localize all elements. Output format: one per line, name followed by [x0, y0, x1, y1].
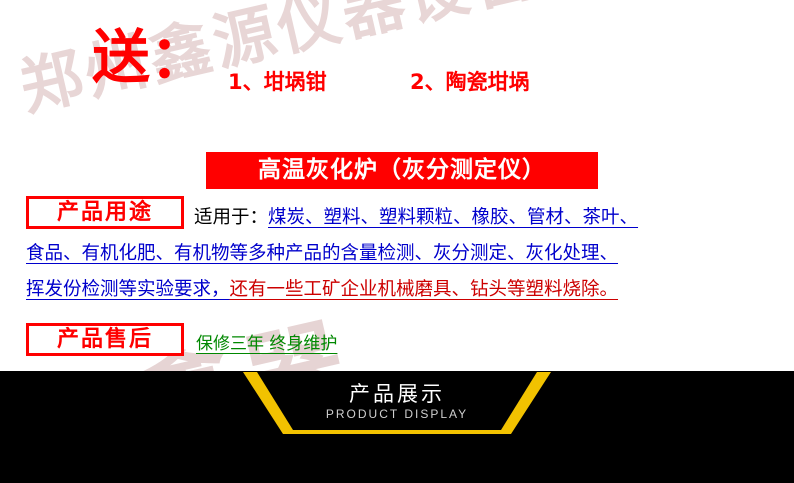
product-display-ribbon: 产品展示 PRODUCT DISPLAY: [243, 372, 551, 434]
after-sales-badge: 产品售后: [26, 323, 184, 356]
gift-row: 送： 1、坩埚钳 2、陶瓷坩埚: [0, 14, 794, 104]
usage-line-3-extra: 还有一些工矿企业机械磨具、钻头等塑料烧除。: [230, 279, 619, 300]
usage-line-1-materials: 煤炭、塑料、塑料颗粒、橡胶、管材、茶叶、: [268, 207, 638, 228]
after-sales-text: 保修三年 终身维护: [196, 329, 337, 354]
product-detail-page: 郑州鑫源仪器设备有限公司 鑫器 送： 1、坩埚钳 2、陶瓷坩埚 高温灰化炉（灰分…: [0, 0, 794, 483]
after-sales-badge-label: 产品售后: [29, 326, 181, 354]
ribbon-title-en: PRODUCT DISPLAY: [243, 407, 551, 421]
product-title-band: 高温灰化炉（灰分测定仪）: [206, 152, 598, 189]
usage-line-1-prefix: 适用于：: [194, 207, 268, 228]
ribbon-title-cn: 产品展示: [243, 378, 551, 408]
gift-label: 送：: [92, 26, 208, 88]
gift-item-2: 2、陶瓷坩埚: [410, 66, 530, 96]
usage-line-1: 适用于：煤炭、塑料、塑料颗粒、橡胶、管材、茶叶、: [26, 200, 766, 236]
usage-line-2: 食品、有机化肥、有机物等多种产品的含量检测、灰分测定、灰化处理、: [26, 236, 766, 272]
usage-line-2-materials: 食品、有机化肥、有机物等多种产品的含量检测、灰分测定、灰化处理、: [26, 243, 618, 264]
usage-line-3-materials: 挥发份检测等实验要求，: [26, 279, 230, 300]
usage-line-3: 挥发份检测等实验要求，还有一些工矿企业机械磨具、钻头等塑料烧除。: [26, 272, 766, 308]
usage-body: 适用于：煤炭、塑料、塑料颗粒、橡胶、管材、茶叶、 食品、有机化肥、有机物等多种产…: [26, 200, 766, 308]
product-title-text: 高温灰化炉（灰分测定仪）: [208, 154, 596, 187]
gift-item-1: 1、坩埚钳: [228, 66, 327, 96]
